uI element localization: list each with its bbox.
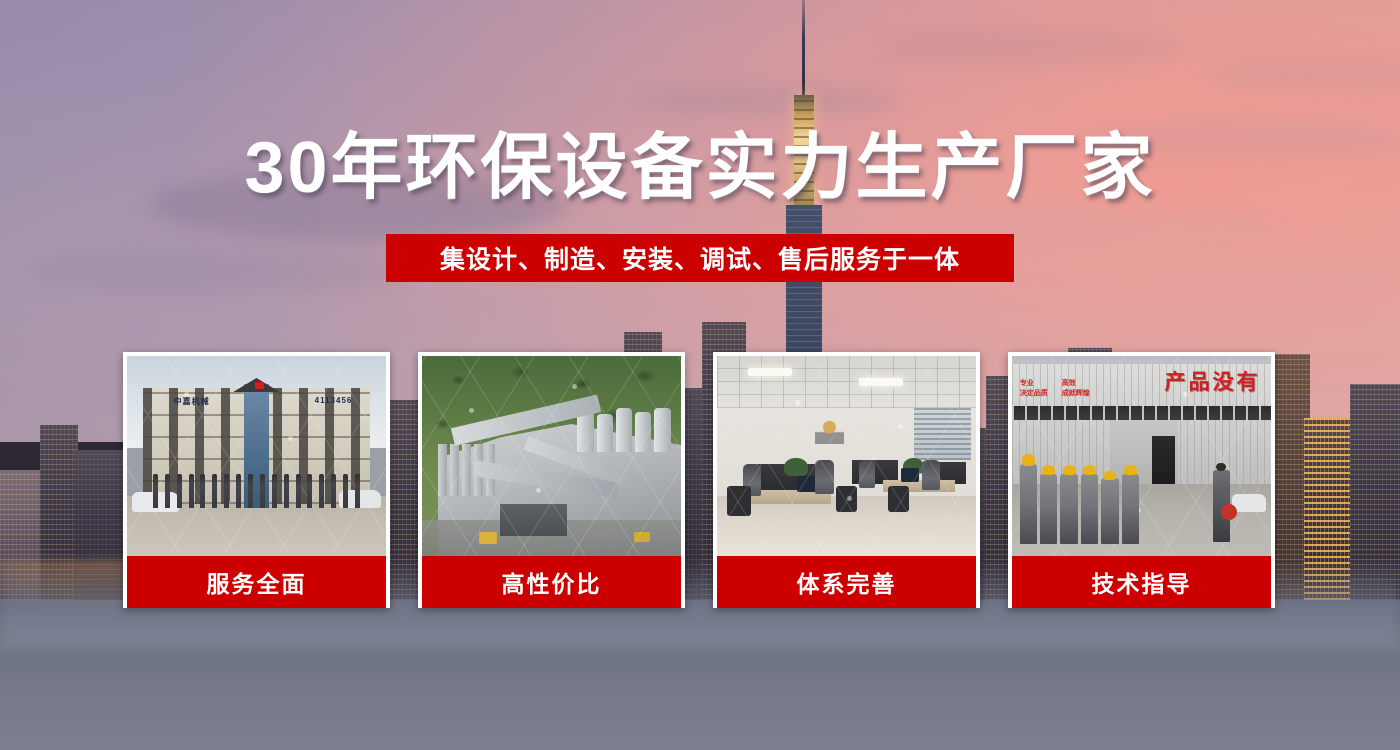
feature-card[interactable]: 产品没有 专业 决定品质 高效 成就辉煌 — [1008, 352, 1275, 608]
feature-card-label: 高性价比 — [422, 556, 681, 608]
workers-technical-training-photo: 产品没有 专业 决定品质 高效 成就辉煌 — [1012, 356, 1271, 556]
photo-phone-sign: 4113456 — [315, 396, 353, 405]
photo-excavator — [634, 532, 650, 542]
feature-card[interactable]: 高性价比 — [418, 352, 685, 608]
page-title: 30年环保设备实力生产厂家 — [0, 132, 1400, 204]
photo-person — [815, 460, 833, 494]
photo-window-blinds — [914, 408, 971, 460]
photo-worker-lineup — [1020, 464, 1139, 544]
feature-card-label: 体系完善 — [717, 556, 976, 608]
photo-ceiling — [717, 356, 976, 408]
photo-slogan-line: 决定品质 — [1020, 388, 1048, 398]
photo-slogan-group: 专业 决定品质 — [1020, 378, 1048, 398]
photo-ceiling-light — [748, 368, 792, 376]
photo-slogan-group: 高效 成就辉煌 — [1062, 378, 1090, 398]
aerial-industrial-plant-photo — [422, 356, 681, 556]
feature-card-label: 服务全面 — [127, 556, 386, 608]
tower-spire — [802, 0, 805, 100]
photo-building-sign: 中嘉机械 — [174, 396, 210, 407]
photo-slogan-line: 成就辉煌 — [1062, 388, 1090, 398]
photo-monitor — [901, 468, 919, 482]
photo-slogan-line: 高效 — [1062, 378, 1090, 388]
photo-wall-slogans: 专业 决定品质 高效 成就辉煌 — [1020, 378, 1090, 398]
photo-factory-sign: 产品没有 — [1165, 366, 1261, 396]
photo-chair — [888, 486, 909, 512]
feature-card[interactable]: 中嘉机械 4113456 服务全面 — [123, 352, 390, 608]
photo-silos — [577, 408, 670, 452]
photo-slogan-line: 专业 — [1020, 378, 1048, 388]
photo-entry-door — [1152, 436, 1175, 484]
photo-window-band — [1012, 406, 1271, 420]
feature-card-label: 技术指导 — [1012, 556, 1271, 608]
company-building-staff-photo: 中嘉机械 4113456 — [127, 356, 386, 556]
photo-excavator — [479, 532, 497, 544]
photo-car — [1232, 494, 1266, 512]
photo-person — [859, 460, 875, 488]
photo-chair — [727, 486, 750, 516]
photo-staff-lineup — [153, 474, 360, 508]
feature-card[interactable]: 体系完善 — [713, 352, 980, 608]
photo-ceiling-light — [859, 378, 903, 386]
photo-person — [922, 460, 940, 490]
office-interior-staff-photo — [717, 356, 976, 556]
photo-potted-plant — [784, 458, 807, 476]
photo-wall-logo — [815, 416, 843, 444]
subtitle-text: 集设计、制造、安装、调试、售后服务于一体 — [440, 240, 960, 276]
photo-flag — [255, 382, 264, 389]
feature-card-list: 中嘉机械 4113456 服务全面 — [123, 352, 1275, 608]
subtitle-banner: 集设计、制造、安装、调试、售后服务于一体 — [386, 234, 1014, 282]
hero-banner: 30年环保设备实力生产厂家 集设计、制造、安装、调试、售后服务于一体 中嘉机械 … — [0, 0, 1400, 750]
photo-warehouse — [500, 504, 567, 536]
